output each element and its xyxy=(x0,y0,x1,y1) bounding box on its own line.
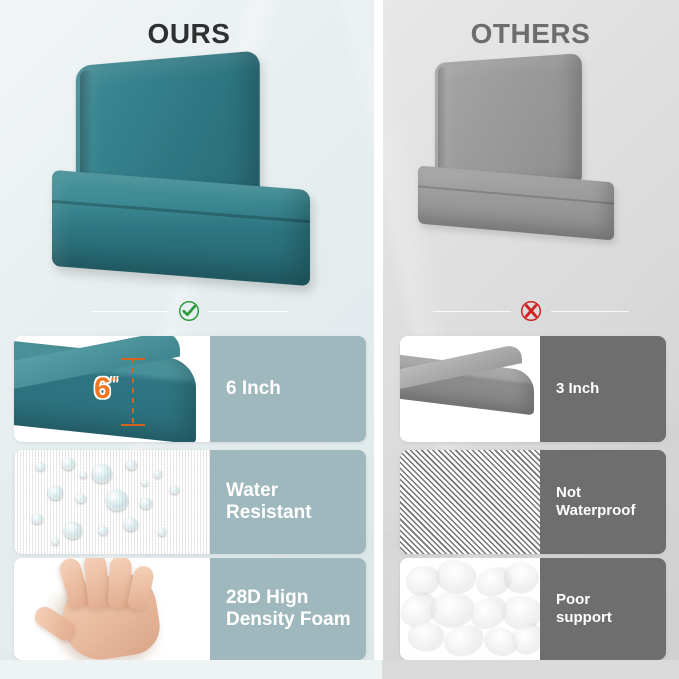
gray-cushion-thickness-photo xyxy=(400,336,540,442)
water-droplets-on-teal-fabric-photo xyxy=(14,450,210,554)
mesh-texture xyxy=(400,450,540,554)
divider-line-right xyxy=(551,311,629,312)
loose-fiber-fill-photo xyxy=(400,558,540,660)
feature-card-others-support: Poor support xyxy=(400,558,666,660)
hero-image-others xyxy=(418,58,633,278)
feature-card-ours-water: Water Resistant xyxy=(14,450,366,554)
feature-card-others-thickness: 3 Inch xyxy=(400,336,666,442)
dark-mesh-fabric-photo xyxy=(400,450,540,554)
verdict-others xyxy=(382,298,679,324)
comparison-infographic: OURS OTHERS 6″ 6 Inch xyxy=(0,0,679,679)
feature-card-ours-thickness: 6″ 6 Inch xyxy=(14,336,366,442)
divider-line-right xyxy=(209,311,287,312)
hand-pressing-foam-photo xyxy=(14,558,210,660)
hero-image-ours xyxy=(52,58,327,290)
feature-label-others-1: 3 Inch xyxy=(540,336,666,442)
check-circle-icon xyxy=(177,299,201,323)
teal-cushion-thickness-photo: 6″ xyxy=(14,336,210,442)
cross-circle-icon xyxy=(519,299,543,323)
page-title-others: OTHERS xyxy=(382,18,679,50)
seat-cushion-teal xyxy=(52,170,310,286)
thickness-callout: 6″ xyxy=(94,374,117,404)
page-title-ours: OURS xyxy=(0,18,378,50)
feature-card-others-water: Not Waterproof xyxy=(400,450,666,554)
feature-card-ours-foam: 28D Hign Density Foam xyxy=(14,558,366,660)
column-divider xyxy=(374,0,383,679)
divider-line-left xyxy=(433,311,511,312)
feature-label-ours-3: 28D Hign Density Foam xyxy=(210,558,366,660)
finger-shape xyxy=(83,558,111,610)
divider-line-left xyxy=(91,311,169,312)
feature-label-ours-1: 6 Inch xyxy=(210,336,366,442)
feature-label-ours-2: Water Resistant xyxy=(210,450,366,554)
bottom-strip-right xyxy=(382,660,679,679)
verdict-ours xyxy=(0,298,378,324)
dimension-line xyxy=(132,358,134,426)
feature-label-others-2: Not Waterproof xyxy=(540,450,666,554)
seat-cushion-gray xyxy=(418,165,614,240)
feature-label-others-3: Poor support xyxy=(540,558,666,660)
